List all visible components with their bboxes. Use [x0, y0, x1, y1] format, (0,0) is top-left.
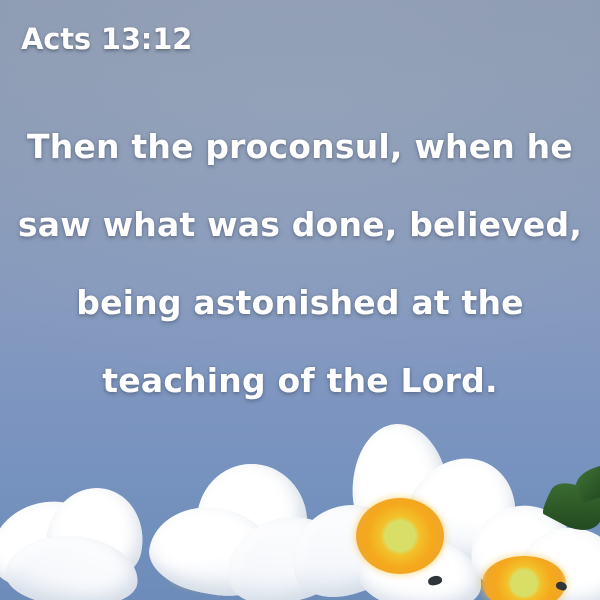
green-leaf-right [540, 475, 600, 539]
flower-center-petal-bottom [357, 532, 486, 600]
flower-left-petal-b [39, 479, 152, 589]
flower-photo-region [0, 410, 600, 600]
flower-left-petal-a [0, 494, 115, 596]
flower-centerleft-petal-a [191, 459, 310, 566]
verse-line-1: Then the proconsul, when he [16, 108, 584, 186]
flower-left-stamen [165, 537, 230, 590]
flower-right-petal-b [515, 521, 600, 600]
photo-speck-b [555, 580, 568, 591]
verse-line-2: saw what was done, believed, [16, 186, 584, 264]
flower-right-stamen [482, 556, 566, 600]
flower-center-stamen [356, 498, 444, 574]
flower-right-petal-a [464, 498, 581, 597]
flower-left-petal-c [4, 531, 141, 600]
flower-centerleft-petal-c [218, 505, 355, 600]
verse-line-4: teaching of the Lord. [16, 342, 584, 420]
verse-image-canvas: Acts 13:12 Then the proconsul, when he s… [0, 0, 600, 600]
photo-speck-a [427, 575, 443, 587]
flower-center-petal-top [348, 421, 452, 545]
flower-centerleft-petal-b [144, 498, 285, 600]
verse-line-3: being astonished at the [16, 264, 584, 342]
flower-center-petal-right [392, 440, 536, 583]
verse-body-text: Then the proconsul, when he saw what was… [0, 108, 600, 420]
verse-reference-title: Acts 13:12 [21, 21, 192, 57]
green-leaf-right-tip [572, 463, 600, 504]
flower-center-petal-left [279, 491, 415, 600]
